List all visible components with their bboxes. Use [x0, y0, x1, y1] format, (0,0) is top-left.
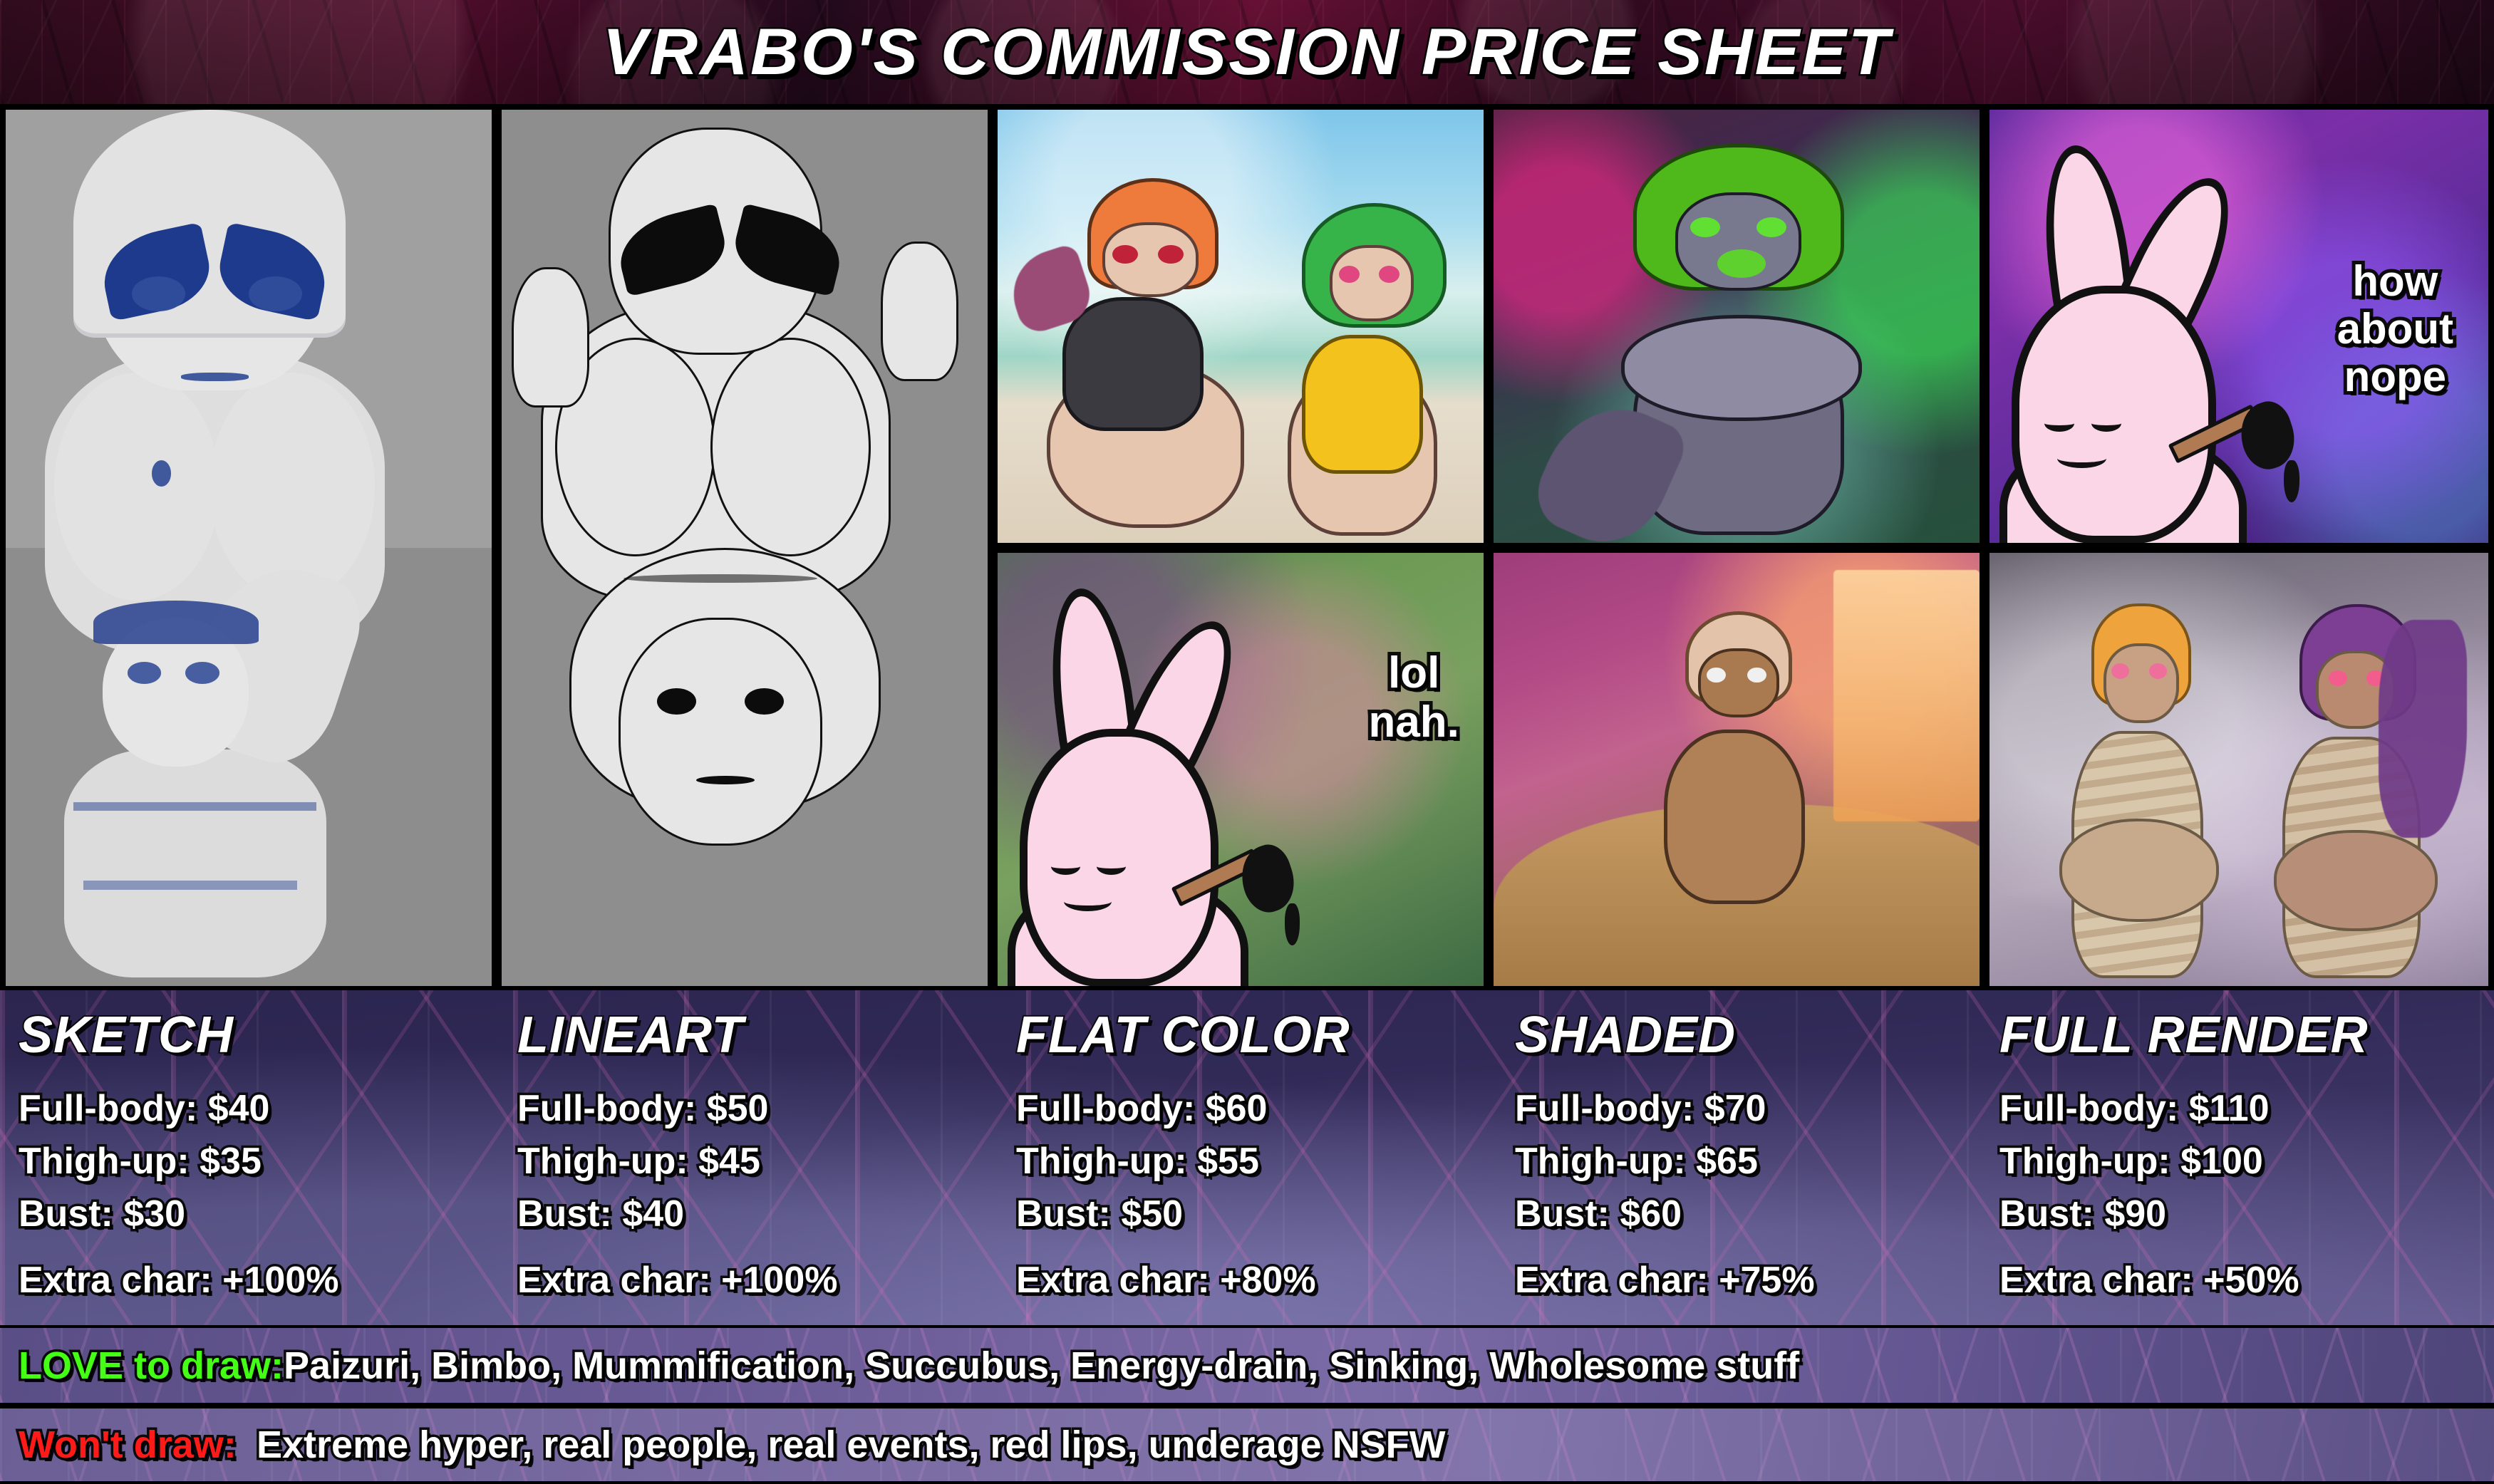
bunny-eye-left [1051, 858, 1080, 875]
tier-title-shaded: SHADED [1515, 1006, 1981, 1064]
sample-panel-shaded-2[interactable] [1491, 550, 1982, 989]
sample-panel-how-about-nope[interactable]: how about nope [1987, 107, 2491, 546]
gallery-column-flat-color: lol nah. [995, 107, 1486, 989]
love-to-draw-value: Paizuri, Bimbo, Mummification, Succubus,… [284, 1344, 1799, 1388]
tier-title-flat-color: FLAT COLOR [1016, 1006, 1496, 1064]
price-flat-color-full-body: Full-body: $60 [1016, 1083, 1496, 1136]
bunny-eye-right [2091, 415, 2121, 432]
price-column-shaded: SHADED Full-body: $70 Thigh-up: $65 Bust… [1496, 990, 1981, 1325]
price-lineart-bust: Bust: $40 [517, 1188, 998, 1241]
price-flat-color-extra-char: Extra char: +80% [1016, 1255, 1496, 1307]
price-full-render-full-body: Full-body: $110 [1999, 1083, 2494, 1136]
price-flat-color-thigh-up: Thigh-up: $55 [1016, 1136, 1496, 1188]
wont-draw-value: Extreme hyper, real people, real events,… [257, 1423, 1446, 1467]
artwork-full-render [1989, 553, 2488, 986]
caption-lol-nah: lol nah. [1368, 648, 1459, 747]
artwork-flat-color [998, 110, 1484, 543]
gallery-column-sketch [3, 107, 495, 989]
artwork-lineart [502, 110, 988, 986]
artwork-shaded-2 [1494, 553, 1980, 986]
price-full-render-extra-char: Extra char: +50% [1999, 1255, 2494, 1307]
paint-drip [1285, 903, 1300, 945]
price-full-render-bust: Bust: $90 [1999, 1188, 2494, 1241]
price-column-lineart: LINEART Full-body: $50 Thigh-up: $45 Bus… [499, 990, 998, 1325]
sample-panel-flat-color[interactable] [995, 107, 1486, 546]
price-shaded-full-body: Full-body: $70 [1515, 1083, 1981, 1136]
tier-title-full-render: FULL RENDER [1999, 1006, 2494, 1064]
artwork-shaded [1494, 110, 1980, 543]
price-lineart-thigh-up: Thigh-up: $45 [517, 1136, 998, 1188]
artwork-how-about-nope: how about nope [1989, 110, 2488, 543]
price-sketch-full-body: Full-body: $40 [19, 1083, 499, 1136]
gallery-column-shaded [1491, 107, 1982, 989]
pricing-table: SKETCH Full-body: $40 Thigh-up: $35 Bust… [0, 990, 2494, 1325]
love-to-draw-label: LOVE to draw: [0, 1344, 284, 1388]
sample-panel-lineart[interactable] [499, 107, 990, 989]
bunny-mouth [2057, 449, 2106, 468]
price-sketch-extra-char: Extra char: +100% [19, 1255, 499, 1307]
sample-panel-full-render[interactable] [1987, 550, 2491, 989]
bunny-mascot-2 [1999, 145, 2309, 546]
bunny-eye-right [1097, 858, 1126, 875]
wont-draw-label: Won't draw: [0, 1423, 257, 1467]
paint-drip [2284, 460, 2299, 502]
header-banner: VRABO'S COMMISSION PRICE SHEET [0, 0, 2494, 104]
bunny-mouth [1064, 892, 1112, 911]
price-full-render-thigh-up: Thigh-up: $100 [1999, 1136, 2494, 1188]
bunny-head [1020, 729, 1218, 987]
price-lineart-full-body: Full-body: $50 [517, 1083, 998, 1136]
bunny-head [2012, 286, 2215, 544]
bunny-eye-left [2044, 415, 2074, 432]
sample-panel-lol-nah[interactable]: lol nah. [995, 550, 1486, 989]
sample-panel-shaded[interactable] [1491, 107, 1982, 546]
price-flat-color-bust: Bust: $50 [1016, 1188, 1496, 1241]
price-column-flat-color: FLAT COLOR Full-body: $60 Thigh-up: $55 … [998, 990, 1496, 1325]
price-sketch-thigh-up: Thigh-up: $35 [19, 1136, 499, 1188]
artwork-lol-nah: lol nah. [998, 553, 1484, 986]
tier-title-lineart: LINEART [517, 1006, 998, 1064]
sample-gallery: lol nah. [0, 104, 2494, 990]
sample-panel-sketch[interactable] [3, 107, 495, 989]
gallery-column-lineart [499, 107, 990, 989]
wont-draw-row: Won't draw: Extreme hyper, real people, … [0, 1406, 2494, 1484]
price-column-sketch: SKETCH Full-body: $40 Thigh-up: $35 Bust… [0, 990, 499, 1325]
tier-title-sketch: SKETCH [19, 1006, 499, 1064]
price-shaded-extra-char: Extra char: +75% [1515, 1255, 1981, 1307]
bunny-mascot [1008, 588, 1309, 989]
price-shaded-thigh-up: Thigh-up: $65 [1515, 1136, 1981, 1188]
gallery-column-full-render: how about nope [1987, 107, 2491, 989]
price-shaded-bust: Bust: $60 [1515, 1188, 1981, 1241]
page-title: VRABO'S COMMISSION PRICE SHEET [0, 0, 2494, 104]
caption-how-about-nope: how about nope [2337, 257, 2453, 401]
love-to-draw-row: LOVE to draw: Paizuri, Bimbo, Mummificat… [0, 1325, 2494, 1406]
price-lineart-extra-char: Extra char: +100% [517, 1255, 998, 1307]
artwork-sketch [6, 110, 492, 986]
price-sketch-bust: Bust: $30 [19, 1188, 499, 1241]
price-column-full-render: FULL RENDER Full-body: $110 Thigh-up: $1… [1981, 990, 2494, 1325]
price-sheet: VRABO'S COMMISSION PRICE SHEET [0, 0, 2494, 1484]
